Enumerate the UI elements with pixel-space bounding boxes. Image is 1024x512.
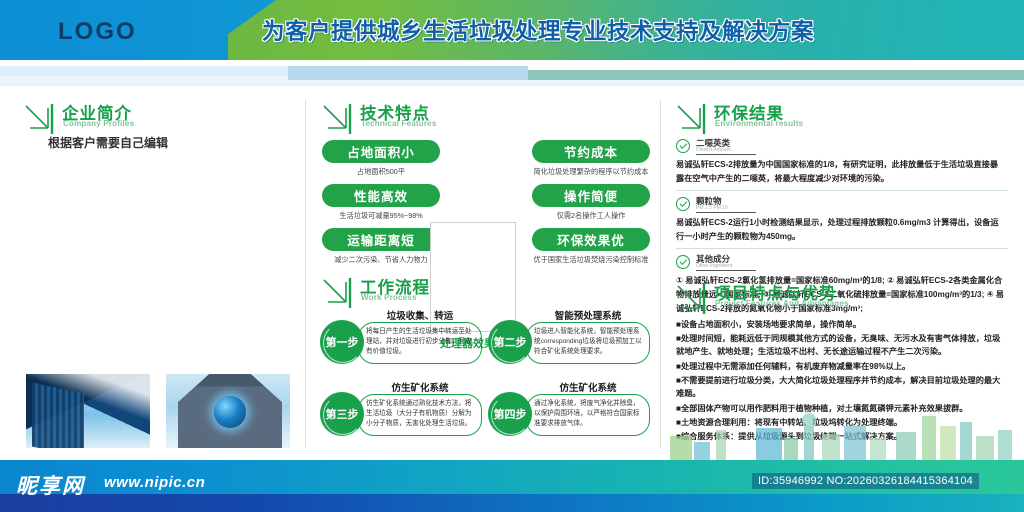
underline	[696, 270, 756, 271]
check-circle-icon	[676, 139, 690, 153]
feature-desc: 优于国家生活垃圾焚烧污染控制标准	[520, 255, 662, 265]
arrow-icon	[322, 278, 356, 308]
underline	[696, 212, 756, 213]
underline	[696, 154, 756, 155]
section-subtitle: Environmental results	[715, 119, 803, 128]
feature-pill[interactable]: 环保效果优	[532, 228, 650, 251]
step-title: 仿生矿化系统	[530, 380, 646, 394]
step-title: 智能预处理系统	[530, 308, 646, 322]
page-title: 为客户提供城乡生活垃圾处理专业技术支持及解决方案	[262, 14, 962, 46]
site-brand-cn: 昵享网	[16, 470, 85, 500]
divider	[676, 190, 1008, 191]
advantage-item: ■处理过程中无需添加任何辅料，有机废弃物减量率在98%以上。	[676, 360, 1008, 373]
step-description: 通过净化系统，将废气净化并除臭，以保护周围环境，以严格符合国家标准要求排放气体。	[526, 394, 650, 436]
feature-pill[interactable]: 性能高效	[322, 184, 440, 207]
site-brand-url: www.nipic.cn	[104, 474, 205, 491]
feature-pill[interactable]: 占地面积小	[322, 140, 440, 163]
advantage-item: ■不需要提前进行垃圾分类，大大简化垃圾处理程序并节约成本，解决目前垃圾处理的最大…	[676, 374, 1008, 401]
arrow-icon	[676, 284, 710, 314]
photo-globe-hands	[164, 372, 292, 450]
decor-band-c	[288, 66, 528, 80]
env-item-subtitle: PM 2.5 PM 10	[696, 205, 728, 211]
step-description: 将每日产生的生活垃圾集中转运至处理站，并对垃圾进行初步分拣，回收有价值垃圾。	[358, 322, 482, 364]
main-content: 企业简介 Company Profiles 根据客户需要自己编辑 技术特点 Te…	[0, 86, 1024, 460]
env-item-subtitle: Other Ingredient	[696, 263, 732, 269]
section-subtitle: Project Features And Advantages	[715, 299, 849, 308]
column-divider-1	[305, 100, 306, 448]
section-subtitle: Work Process	[361, 293, 417, 302]
arrow-icon	[24, 104, 58, 134]
step-title: 仿生矿化系统	[362, 380, 478, 394]
decor-band-a	[0, 66, 290, 76]
arrow-icon	[676, 104, 710, 134]
step-title: 垃圾收集、转运	[362, 308, 478, 322]
advantage-item: ■处理时间短，能耗远低于同规模其他方式的设备，无臭味、无污水及有害气体排放，垃圾…	[676, 332, 1008, 359]
column-divider-2	[660, 100, 661, 448]
feature-desc: 生活垃圾可减量95%~98%	[310, 211, 452, 221]
photo-buildings	[24, 372, 152, 450]
section-subtitle: Technical Features	[361, 119, 436, 128]
step-description: 垃圾进入智能化系统，智能预处理系统corresponding垃圾将垃圾预加工以符…	[526, 322, 650, 364]
company-profile-text: 根据客户需要自己编辑	[48, 134, 168, 151]
feature-desc: 简化垃圾处理繁杂的程序以节约成本	[520, 167, 662, 177]
divider	[676, 248, 1008, 249]
city-skyline-decoration	[664, 408, 1016, 460]
advantage-item: ■设备占地面积小，安装场地要求简单，操作简单。	[676, 318, 1008, 331]
feature-desc: 仅需2名操作工人操作	[520, 211, 662, 221]
check-circle-icon	[676, 255, 690, 269]
feature-pill[interactable]: 操作简便	[532, 184, 650, 207]
check-circle-icon	[676, 197, 690, 211]
feature-pill[interactable]: 节约成本	[532, 140, 650, 163]
env-item-text: 易诚弘轩ECS-2排放量为中国国家标准的1/8，有研究证明，此排放量低于生活垃圾…	[676, 158, 1006, 186]
env-item-subtitle: Dioxins Amount	[696, 147, 731, 153]
decor-band-d	[528, 70, 1024, 80]
step-description: 仿生矿化系统通过熟化技术方法，将生活垃圾（大分子有机物质）分解为小分子物质，无害…	[358, 394, 482, 436]
poster-board: LOGO 为客户提供城乡生活垃圾处理专业技术支持及解决方案 企业简介 Compa…	[0, 0, 1024, 512]
logo: LOGO	[58, 18, 137, 46]
section-subtitle: Company Profiles	[63, 119, 134, 128]
feature-desc: 占地面积500平	[310, 167, 452, 177]
arrow-icon	[322, 104, 356, 134]
feature-pill[interactable]: 运输距离短	[322, 228, 440, 251]
watermark-id: ID:35946992 NO:20260326184415364104	[752, 473, 979, 489]
footer-bottom-strip	[0, 494, 1024, 512]
env-item-text: 易诚弘轩ECS-2运行1小时检测结果显示，处理过程排放颗粒0.6mg/m3 计算…	[676, 216, 1006, 244]
